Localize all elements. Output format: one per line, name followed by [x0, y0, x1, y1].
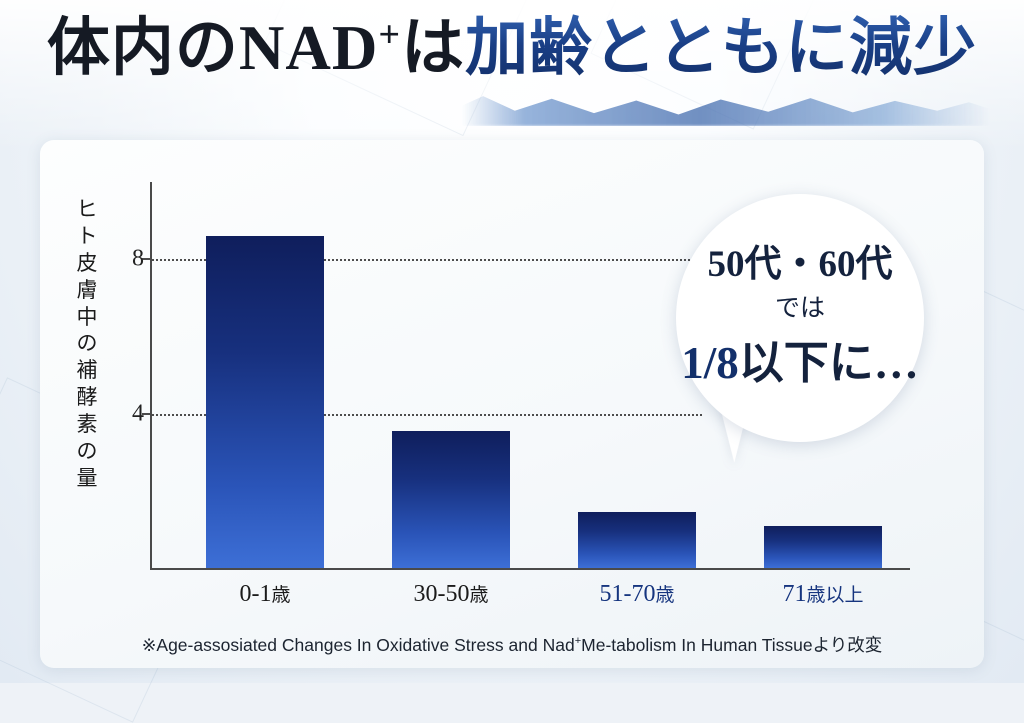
title-part-3: 加齢とともに減少 — [465, 13, 977, 83]
page-title: 体内のNAD+は加齢とともに減少 — [0, 14, 1024, 82]
bar-label-0-1: 0-1歳 — [165, 580, 365, 608]
callout-bubble: 50代・60代 では 1/8以下に… — [676, 194, 924, 442]
callout-fraction: 1/8 — [681, 338, 739, 388]
callout-line-1: 50代・60代 — [708, 245, 893, 286]
ytick-label-4: 4 — [120, 400, 144, 427]
bar-0-1: 0-1歳 — [206, 236, 324, 568]
callout-line-3-rest: 以下に… — [739, 338, 919, 388]
footnote-text-after: Me-tabolism In Human Tissueより改変 — [581, 635, 882, 655]
y-axis-label: ヒト皮膚中の補酵素の量 — [72, 196, 102, 492]
x-axis — [150, 568, 910, 570]
footnote-text-before: ※Age-assosiated Changes In Oxidative Str… — [142, 635, 575, 655]
bar-label-71-plus: 71歳以上 — [723, 580, 923, 608]
title-part-2: は — [401, 13, 465, 83]
callout-line-3: 1/8以下に… — [681, 326, 919, 391]
callout-line-2: では — [775, 288, 825, 324]
bar-51-70: 51-70歳 — [578, 512, 696, 568]
title-part-1: 体内のNAD — [47, 13, 379, 83]
bar-30-50: 30-50歳 — [392, 431, 510, 568]
bar-71-plus: 71歳以上 — [764, 526, 882, 568]
title-superscript: + — [378, 14, 401, 56]
footnote: ※Age-assosiated Changes In Oxidative Str… — [0, 632, 1024, 657]
bar-label-30-50: 30-50歳 — [351, 580, 551, 608]
bar-label-51-70: 51-70歳 — [537, 580, 737, 608]
y-axis — [150, 182, 152, 570]
ytick-label-8: 8 — [120, 246, 144, 273]
